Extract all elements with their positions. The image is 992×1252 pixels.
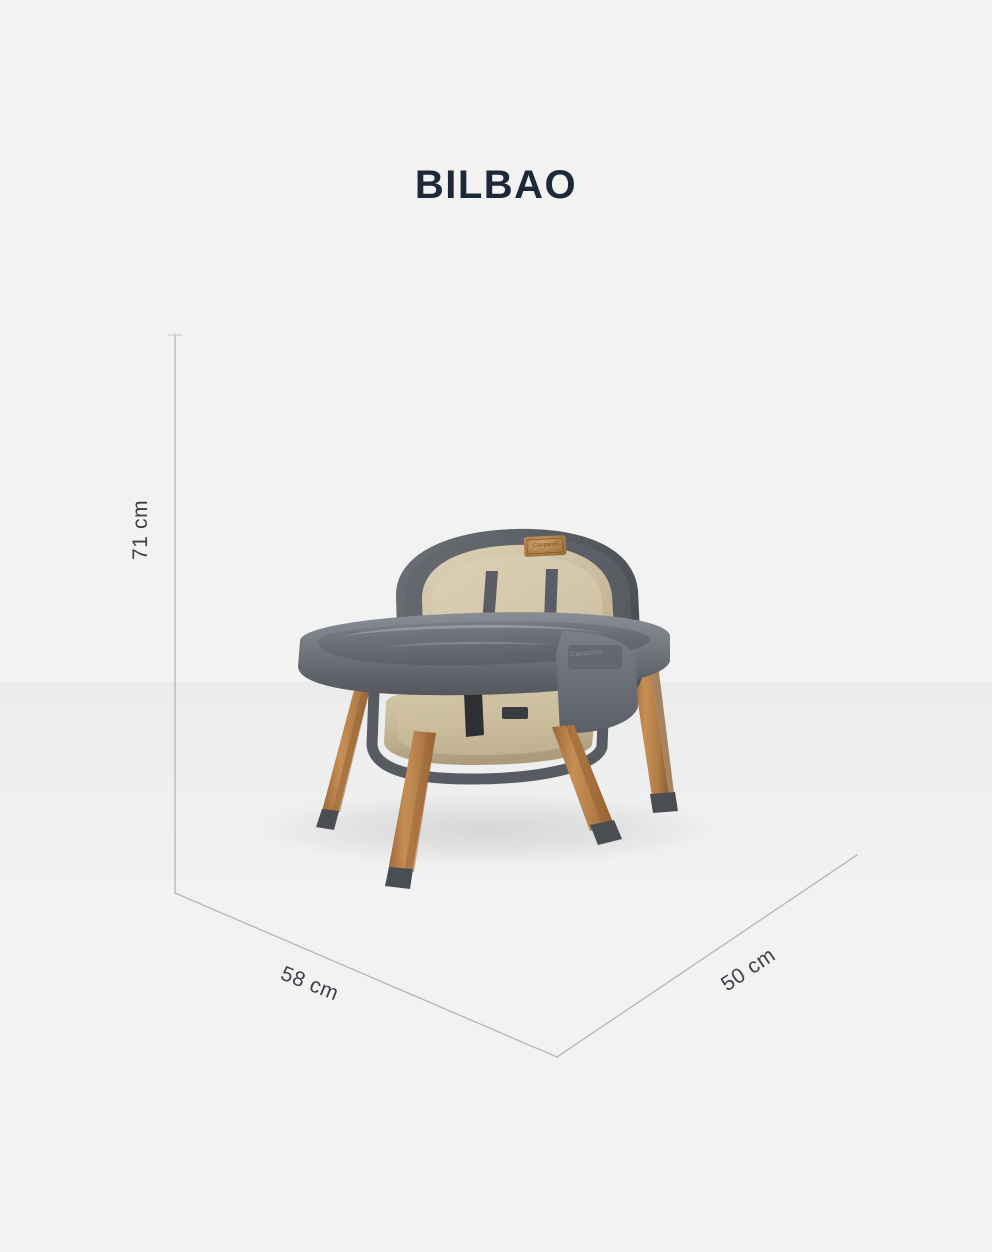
foot-cap-rear-left (316, 809, 339, 830)
dimension-label-depth: 50 cm (717, 943, 780, 997)
page-title: BILBAO (0, 163, 992, 208)
foot-cap-front-left (385, 867, 413, 889)
dimension-label-height: 71 cm (129, 500, 153, 560)
seat-side-module (556, 631, 638, 733)
dimension-label-width: 58 cm (277, 962, 342, 1006)
high-chair-illustration (246, 495, 746, 915)
foot-cap-rear-right (650, 792, 678, 813)
chair-leg-rear-right (632, 663, 678, 813)
chair-leg-front-left (385, 731, 436, 889)
chair-leg-rear-left (316, 673, 374, 830)
product-dimension-diagram: BILBAO (0, 0, 992, 1252)
product-image: Cangaroo Cangaroo (246, 495, 746, 915)
brand-patch (524, 535, 567, 557)
